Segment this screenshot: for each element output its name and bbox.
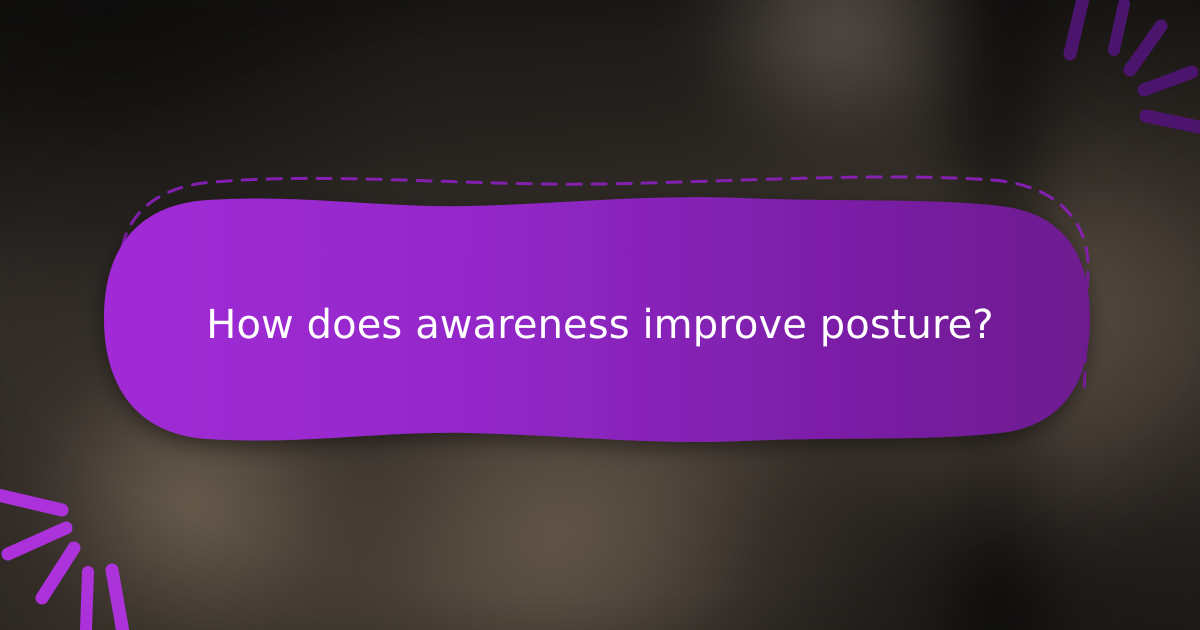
question-card-stage: How does awareness improve posture? — [0, 0, 1200, 630]
question-title: How does awareness improve posture? — [120, 300, 1080, 350]
